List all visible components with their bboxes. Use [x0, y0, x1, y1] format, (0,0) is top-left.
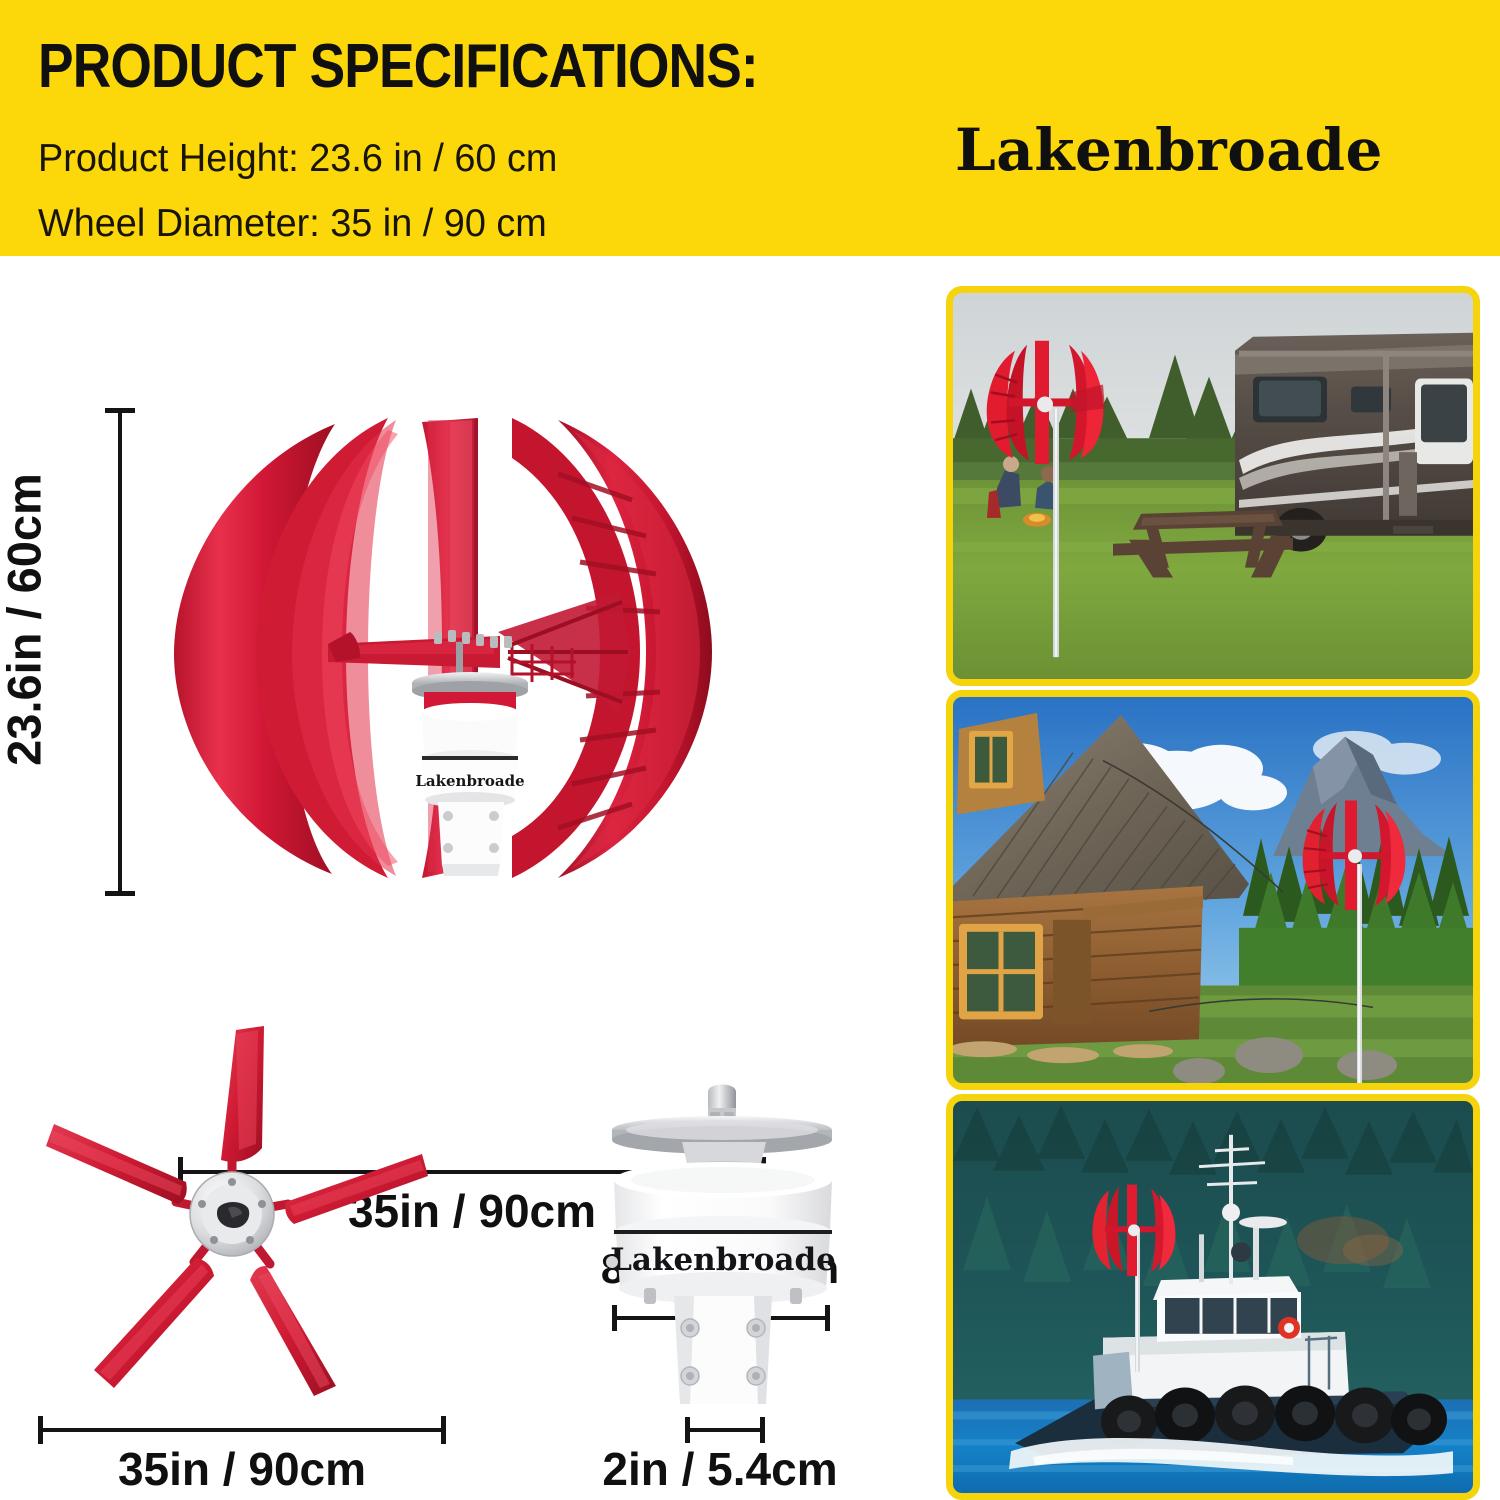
header-banner: PRODUCT SPECIFICATIONS: Product Height: …	[0, 0, 1500, 256]
page-title: PRODUCT SPECIFICATIONS:	[38, 36, 758, 98]
diagram-panel: 23.6in / 60cm	[0, 256, 940, 1500]
height-dimension-line	[118, 408, 122, 896]
brand-logo: Lakenbroade	[955, 121, 1383, 179]
lifestyle-photo-column	[946, 286, 1480, 1500]
turbine-generator-brand-text: Lakenbroade	[415, 772, 524, 790]
height-dimension-label: 23.6in / 60cm	[1, 410, 48, 830]
generator-shaft-label: 2in / 5.4cm	[576, 1446, 864, 1492]
rotor-illustration	[36, 1018, 456, 1398]
turbine-illustration: Lakenbroade	[160, 396, 790, 896]
generator-shaft-dimension-line	[685, 1428, 765, 1432]
rotor-width-dimension-line	[38, 1428, 446, 1432]
rotor-width-label: 35in / 90cm	[38, 1446, 446, 1492]
photo-tugboat[interactable]	[946, 1094, 1480, 1500]
generator-brand-text: Lakenbroade	[610, 1242, 836, 1278]
spec-wheel-diameter: Wheel Diameter: 35 in / 90 cm	[38, 204, 547, 243]
spec-product-height: Product Height: 23.6 in / 60 cm	[38, 139, 557, 178]
generator-illustration: Lakenbroade	[590, 1084, 870, 1414]
product-spec-page: PRODUCT SPECIFICATIONS: Product Height: …	[0, 0, 1500, 1500]
photo-log-cabin[interactable]	[946, 690, 1480, 1090]
photo-rv-campsite[interactable]	[946, 286, 1480, 686]
